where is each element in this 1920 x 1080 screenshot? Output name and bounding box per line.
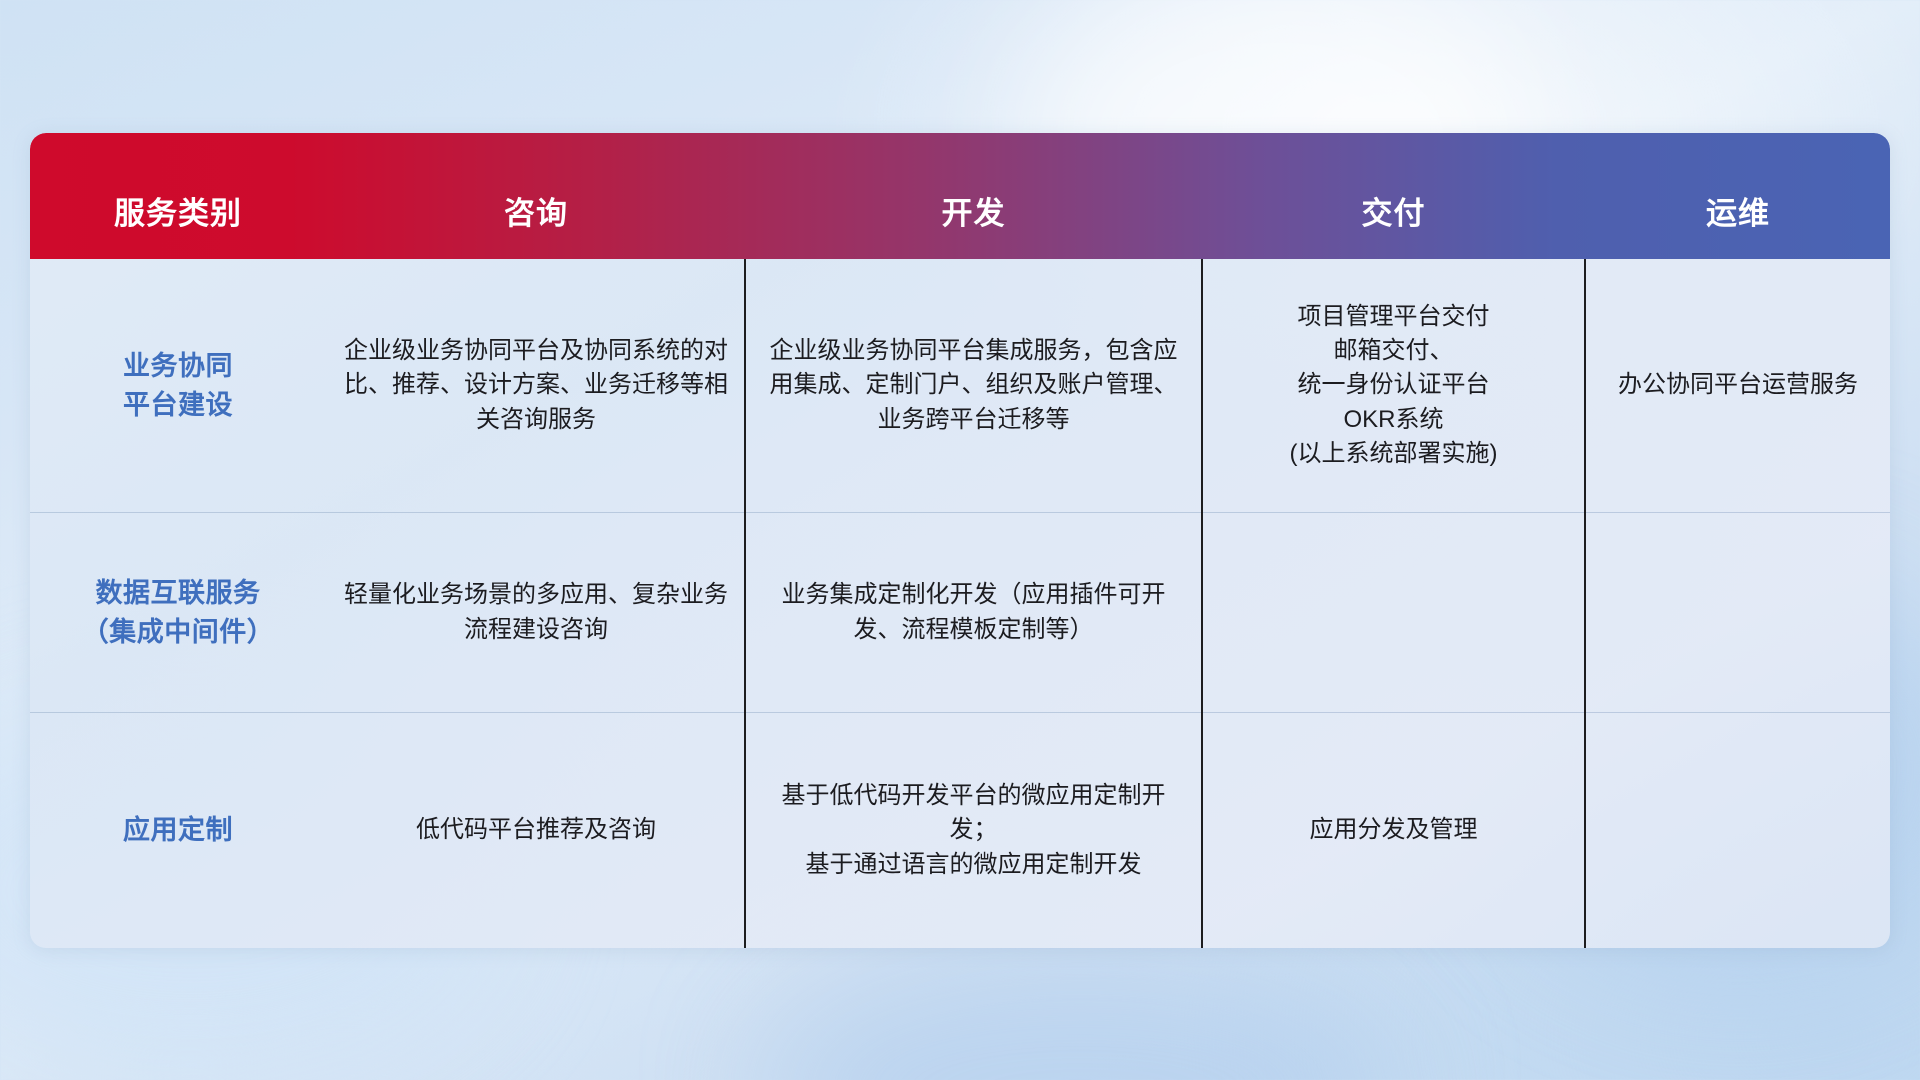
cell-development-row3: 基于低代码开发平台的微应用定制开发； 基于通过语言的微应用定制开发 — [746, 713, 1201, 948]
table-body: 业务协同 平台建设 企业级业务协同平台及协同系统的对比、推荐、设计方案、业务迁移… — [30, 259, 1890, 948]
cell-delivery-row3: 应用分发及管理 — [1201, 713, 1586, 948]
cell-development-row1: 企业级业务协同平台集成服务，包含应用集成、定制门户、组织及账户管理、业务跨平台迁… — [746, 259, 1201, 512]
cell-operations-row1: 办公协同平台运营服务 — [1586, 259, 1890, 512]
column-header-delivery: 交付 — [1201, 188, 1586, 259]
column-header-category: 服务类别 — [30, 188, 326, 259]
cell-consulting-row3: 低代码平台推荐及咨询 — [326, 713, 746, 948]
cell-operations-row2 — [1586, 513, 1890, 712]
cell-consulting-row1: 企业级业务协同平台及协同系统的对比、推荐、设计方案、业务迁移等相关咨询服务 — [326, 259, 746, 512]
column-divider-delivery — [1201, 259, 1203, 948]
column-divider-operations — [1584, 259, 1586, 948]
cell-operations-row3 — [1586, 713, 1890, 948]
table-row: 业务协同 平台建设 企业级业务协同平台及协同系统的对比、推荐、设计方案、业务迁移… — [30, 259, 1890, 512]
table-row: 数据互联服务 （集成中间件） 轻量化业务场景的多应用、复杂业务流程建设咨询 业务… — [30, 512, 1890, 712]
column-divider-development — [744, 259, 746, 948]
cell-delivery-row1: 项目管理平台交付 邮箱交付、 统一身份认证平台 OKR系统 (以上系统部署实施) — [1201, 259, 1586, 512]
cell-development-row2: 业务集成定制化开发（应用插件可开发、流程模板定制等） — [746, 513, 1201, 712]
column-header-development: 开发 — [746, 188, 1201, 259]
background-glow-bottom-center — [760, 960, 1400, 1080]
service-matrix-table: 服务类别 咨询 开发 交付 运维 业务协同 平台建设 企业级业务协同平台及协同系… — [30, 133, 1890, 948]
table-header-row: 服务类别 咨询 开发 交付 运维 — [30, 133, 1890, 259]
column-header-consulting: 咨询 — [326, 188, 746, 259]
row-label-business-collaboration: 业务协同 平台建设 — [30, 259, 326, 512]
cell-consulting-row2: 轻量化业务场景的多应用、复杂业务流程建设咨询 — [326, 513, 746, 712]
cell-delivery-row2 — [1201, 513, 1586, 712]
row-label-data-interconnect: 数据互联服务 （集成中间件） — [30, 513, 326, 712]
table-row: 应用定制 低代码平台推荐及咨询 基于低代码开发平台的微应用定制开发； 基于通过语… — [30, 712, 1890, 948]
column-header-operations: 运维 — [1586, 188, 1890, 259]
row-label-app-customization: 应用定制 — [30, 713, 326, 948]
